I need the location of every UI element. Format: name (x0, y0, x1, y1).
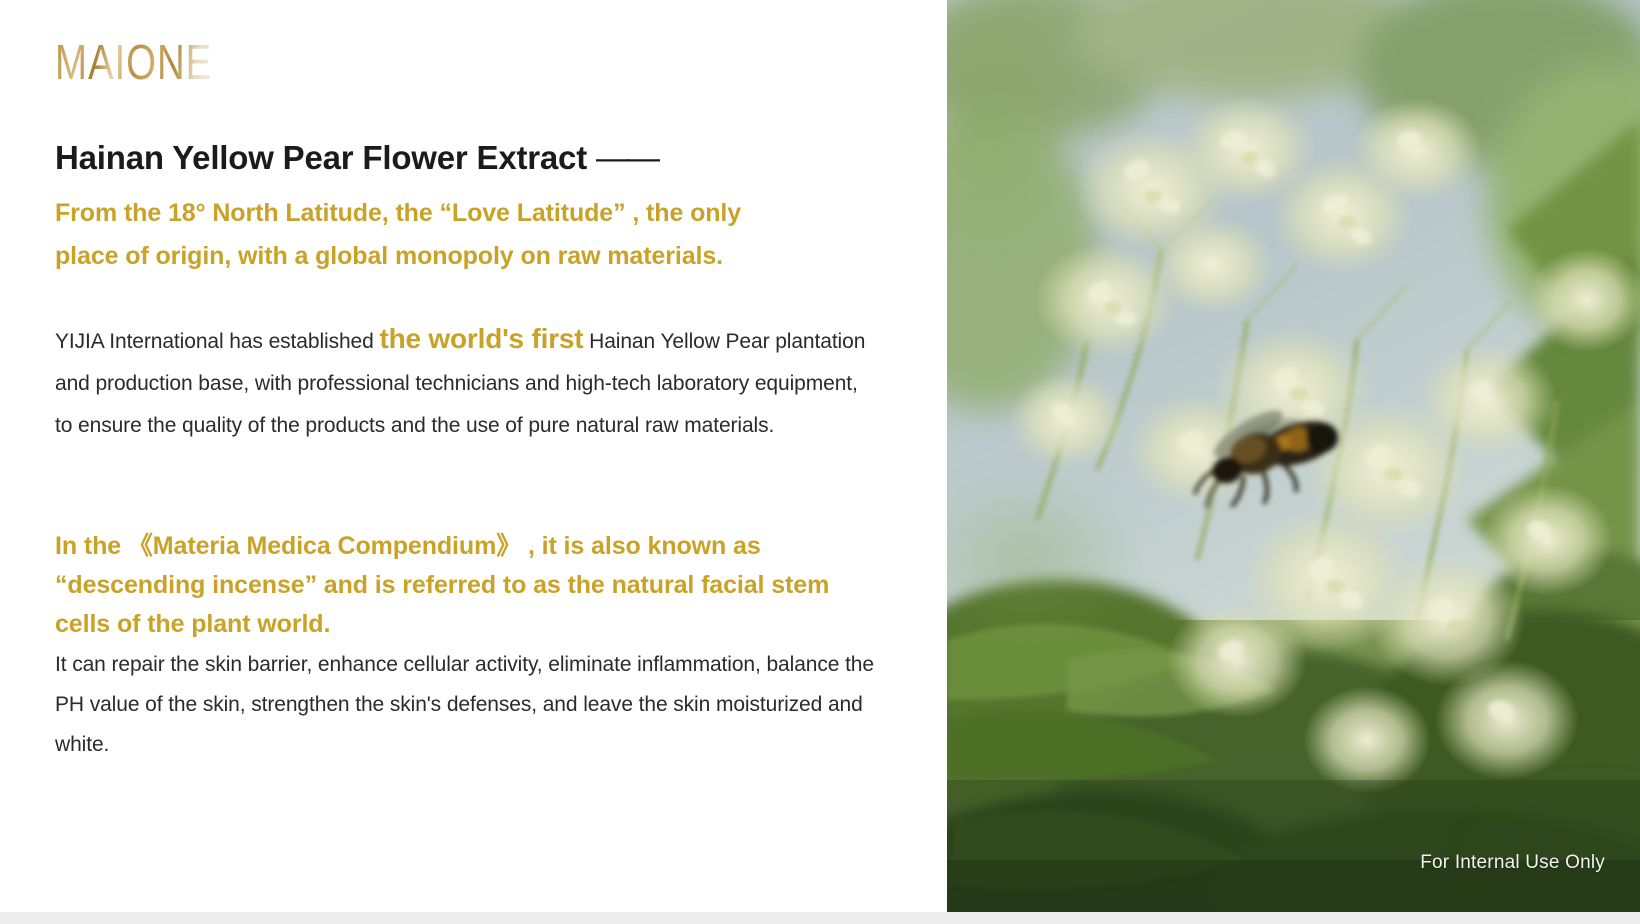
content-sheet: MAIONE Hainan Yellow Pear Flower Extract… (0, 0, 1640, 912)
flower-photograph-illustration (947, 0, 1640, 912)
paragraph-skin-benefits: It can repair the skin barrier, enhance … (55, 645, 885, 765)
photo-watermark: For Internal Use Only (1420, 852, 1605, 874)
subtitle-line-1: From the 18° North Latitude, the “Love L… (55, 192, 855, 235)
hero-photo: For Internal Use Only (947, 0, 1640, 912)
title-em-dash: —— (596, 139, 658, 176)
page-title: Hainan Yellow Pear Flower Extract —— (55, 138, 895, 178)
subtitle-line-2: place of origin, with a global monopoly … (55, 235, 855, 278)
text-column: MAIONE Hainan Yellow Pear Flower Extract… (0, 0, 947, 912)
paragraph-company-intro: YIJIA International has established the … (55, 318, 870, 447)
slide-root: MAIONE Hainan Yellow Pear Flower Extract… (0, 0, 1640, 924)
page-subtitle: From the 18° North Latitude, the “Love L… (55, 192, 855, 278)
viewer-bottom-band (0, 912, 1640, 924)
page-title-text: Hainan Yellow Pear Flower Extract (55, 139, 596, 176)
brand-logo: MAIONE (55, 34, 212, 93)
paragraph-1-lead: YIJIA International has established (55, 330, 379, 353)
paragraph-materia-medica: In the 《Materia Medica Compendium》 , it … (55, 527, 855, 644)
paragraph-1-highlight: the world's first (379, 323, 583, 354)
